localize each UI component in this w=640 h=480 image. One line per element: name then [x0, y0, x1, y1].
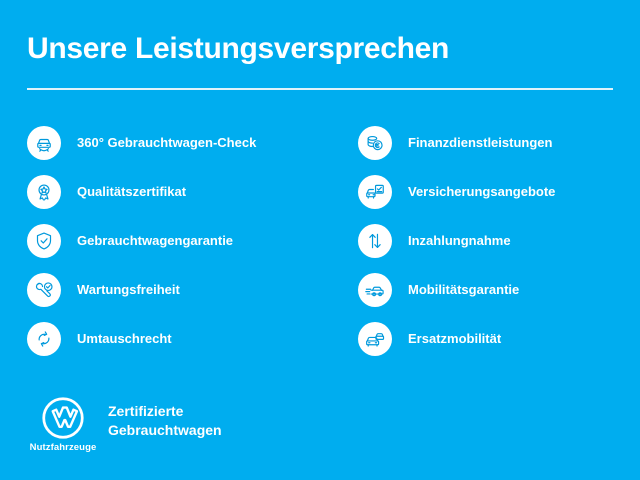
list-item[interactable]: Gebrauchtwagengarantie — [27, 216, 327, 265]
list-item[interactable]: Umtauschrecht — [27, 314, 327, 363]
list-item[interactable]: Mobilitätsgarantie — [358, 265, 640, 314]
list-item-label: Gebrauchtwagengarantie — [77, 233, 233, 249]
two-cars-icon — [358, 322, 392, 356]
car-motion-icon — [358, 273, 392, 307]
list-item-label: Ersatzmobilität — [408, 331, 501, 347]
list-item[interactable]: 360° Gebrauchtwagen-Check — [27, 118, 327, 167]
footer-tagline-line-1: Zertifizierte — [108, 402, 222, 421]
list-item-label: Wartungsfreiheit — [77, 282, 180, 298]
list-item[interactable]: Wartungsfreiheit — [27, 265, 327, 314]
promises-slide: Unsere Leistungsversprechen 360° Gebrauc… — [0, 0, 640, 480]
promises-columns: 360° Gebrauchtwagen-Check Qualitätszerti… — [0, 118, 640, 368]
vw-roundel-logo — [41, 396, 85, 440]
vw-logo-block: Nutzfahrzeuge — [27, 396, 99, 453]
list-item-label: 360° Gebrauchtwagen-Check — [77, 135, 256, 151]
footer-tagline-line-2: Gebrauchtwagen — [108, 421, 222, 440]
list-item-label: Finanzdienstleistungen — [408, 135, 552, 151]
vw-subbrand-label: Nutzfahrzeuge — [30, 442, 97, 453]
title-divider — [27, 88, 613, 90]
wrench-check-icon — [27, 273, 61, 307]
list-item-label: Inzahlungnahme — [408, 233, 511, 249]
list-item[interactable]: Versicherungsangebote — [358, 167, 640, 216]
arrows-up-down-icon — [358, 224, 392, 258]
page-title: Unsere Leistungsversprechen — [27, 31, 449, 67]
car-checklist-icon — [358, 175, 392, 209]
list-item-label: Versicherungsangebote — [408, 184, 555, 200]
list-item-label: Umtauschrecht — [77, 331, 172, 347]
award-rosette-icon — [27, 175, 61, 209]
list-item[interactable]: Ersatzmobilität — [358, 314, 640, 363]
promises-left-column: 360° Gebrauchtwagen-Check Qualitätszerti… — [27, 118, 327, 363]
list-item-label: Mobilitätsgarantie — [408, 282, 519, 298]
exchange-arrows-icon — [27, 322, 61, 356]
footer-branding: Nutzfahrzeuge Zertifizierte Gebrauchtwag… — [27, 396, 222, 453]
car-360-check-icon — [27, 126, 61, 160]
promises-right-column: Finanzdienstleistungen Versicherungsange… — [358, 118, 640, 363]
list-item[interactable]: Inzahlungnahme — [358, 216, 640, 265]
list-item-label: Qualitätszertifikat — [77, 184, 186, 200]
list-item[interactable]: Qualitätszertifikat — [27, 167, 327, 216]
footer-tagline: Zertifizierte Gebrauchtwagen — [108, 402, 222, 440]
coins-euro-icon — [358, 126, 392, 160]
shield-check-icon — [27, 224, 61, 258]
list-item[interactable]: Finanzdienstleistungen — [358, 118, 640, 167]
